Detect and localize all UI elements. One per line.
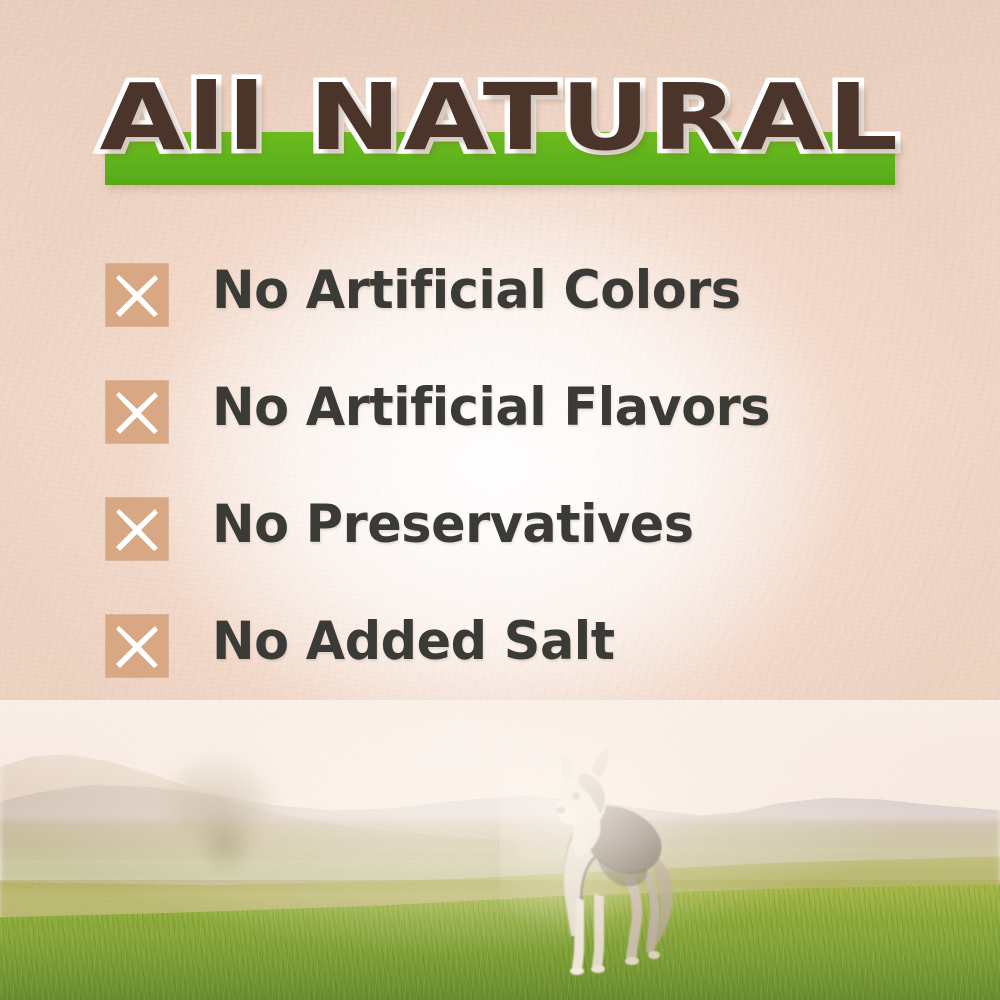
landscape-photo <box>0 700 1000 1000</box>
x-mark-icon <box>106 264 168 326</box>
list-item-label: No Preservatives <box>212 492 694 558</box>
list-item: No Artificial Flavors <box>0 375 1000 492</box>
x-mark-icon <box>106 615 168 677</box>
page-title: All NATURAL <box>0 66 1000 170</box>
list-item-label: No Artificial Colors <box>212 258 741 324</box>
list-item: No Preservatives <box>0 492 1000 609</box>
x-mark-icon <box>106 498 168 560</box>
list-item-label: No Artificial Flavors <box>212 375 770 441</box>
list-item-label: No Added Salt <box>212 609 615 675</box>
title-banner: All NATURAL <box>0 66 1000 206</box>
list-item: No Artificial Colors <box>0 258 1000 375</box>
border-collie-dog <box>520 742 690 984</box>
all-natural-poster: All NATURAL No Artificial Colors No Arti… <box>0 0 1000 1000</box>
x-mark-icon <box>106 381 168 443</box>
claims-list: No Artificial Colors No Artificial Flavo… <box>0 258 1000 726</box>
